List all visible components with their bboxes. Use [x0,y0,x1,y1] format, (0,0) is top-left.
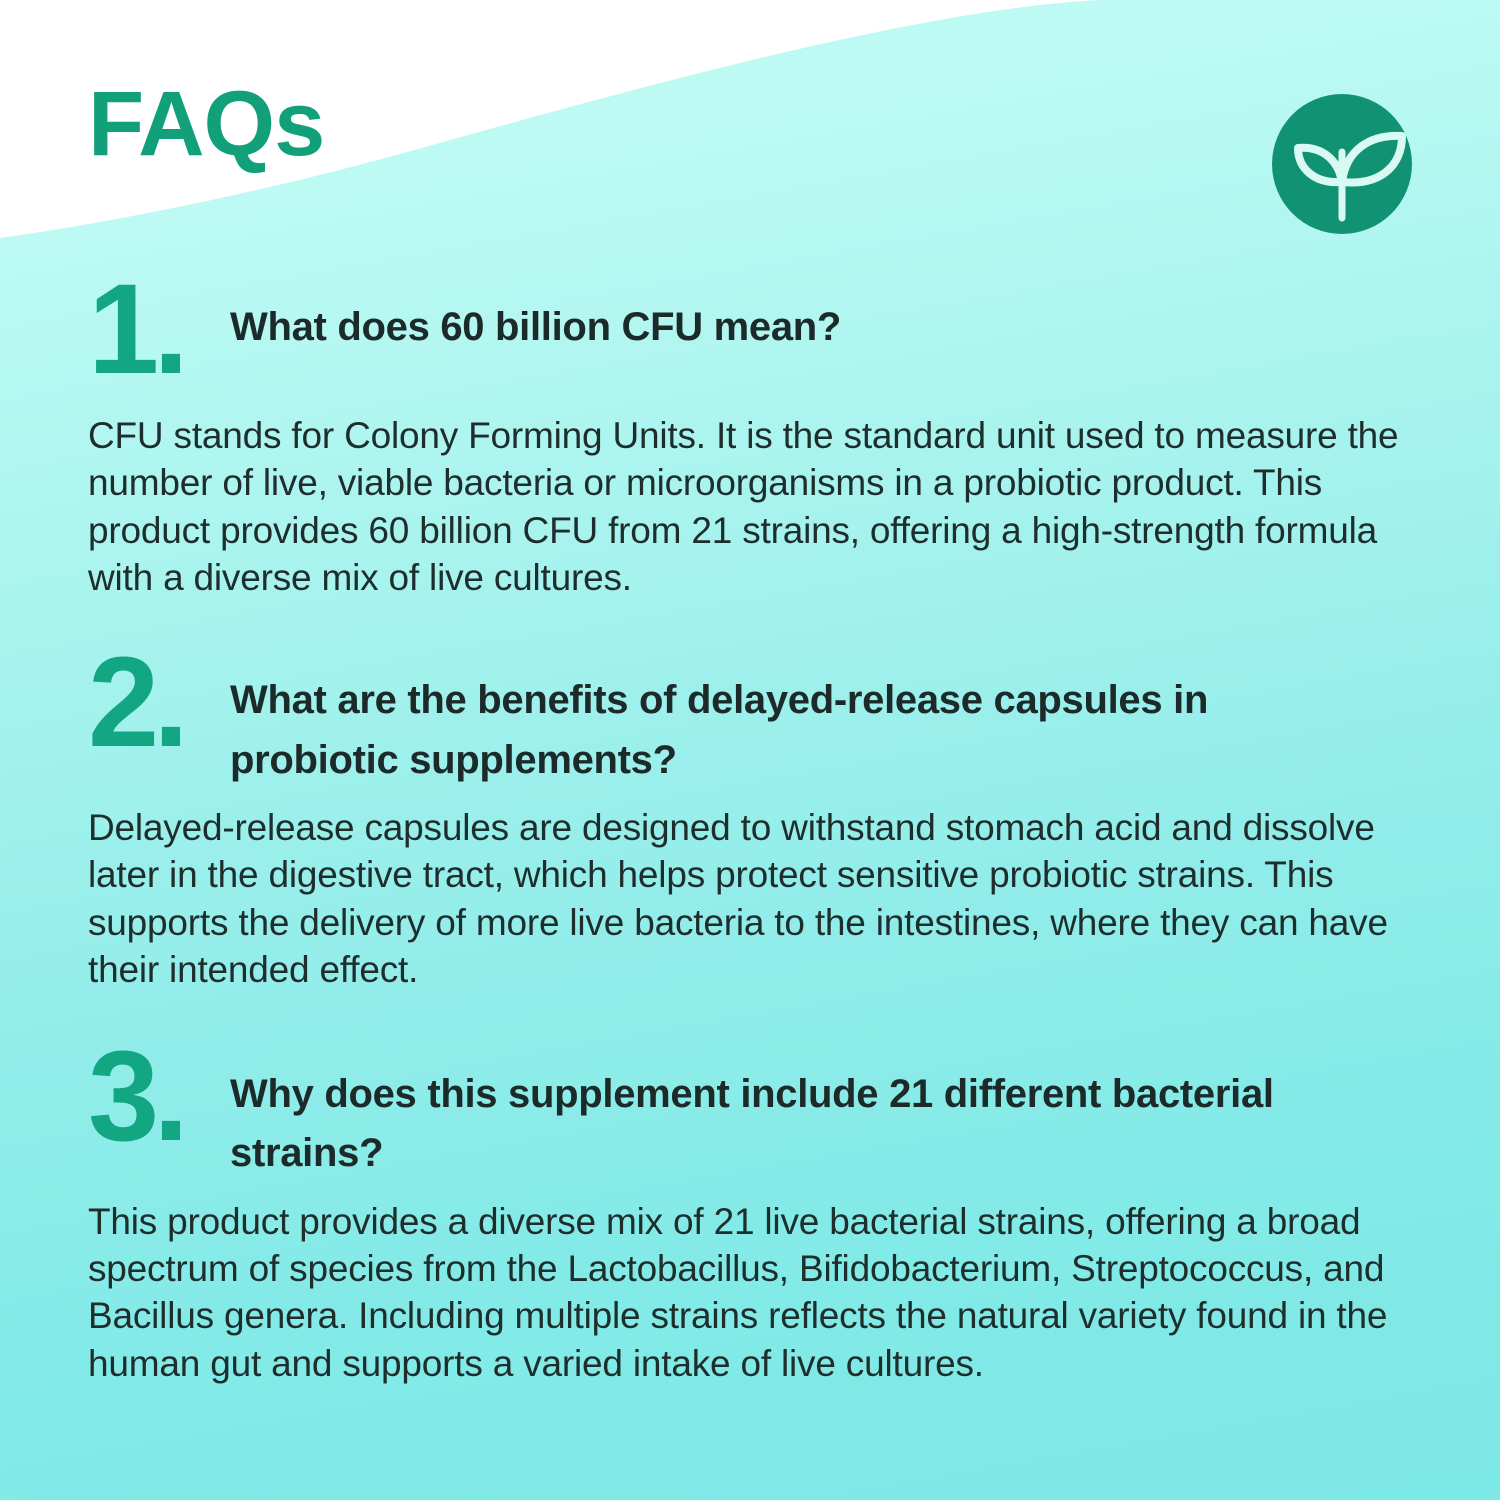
faq-answer-1: CFU stands for Colony Forming Units. It … [88,412,1428,601]
faq-heading-1: 1. What does 60 billion CFU mean? [88,280,1428,398]
faq-number-2: 2. [88,639,183,767]
faq-item-2: 2. What are the benefits of delayed-rele… [0,653,1500,993]
page-title: FAQs [88,78,324,170]
faq-question-2: What are the benefits of delayed-release… [230,653,1380,789]
faq-heading-2: 2. What are the benefits of delayed-rele… [88,653,1428,789]
faq-item-3: 3. Why does this supplement include 21 d… [0,1047,1500,1387]
faq-answer-2: Delayed-release capsules are designed to… [88,804,1428,993]
faq-answer-3: This product provides a diverse mix of 2… [88,1198,1428,1387]
faq-list: 1. What does 60 billion CFU mean? CFU st… [0,280,1500,1387]
faq-question-1: What does 60 billion CFU mean? [230,280,1380,357]
faq-heading-3: 3. Why does this supplement include 21 d… [88,1047,1428,1183]
faq-number-1: 1. [88,266,183,394]
faq-number-3: 3. [88,1033,183,1161]
faq-question-3: Why does this supplement include 21 diff… [230,1047,1380,1183]
faq-item-1: 1. What does 60 billion CFU mean? CFU st… [0,280,1500,601]
sprout-logo-icon [1268,90,1416,238]
faq-infographic: FAQs 1. What does 60 billion CFU mean? C… [0,0,1500,1500]
